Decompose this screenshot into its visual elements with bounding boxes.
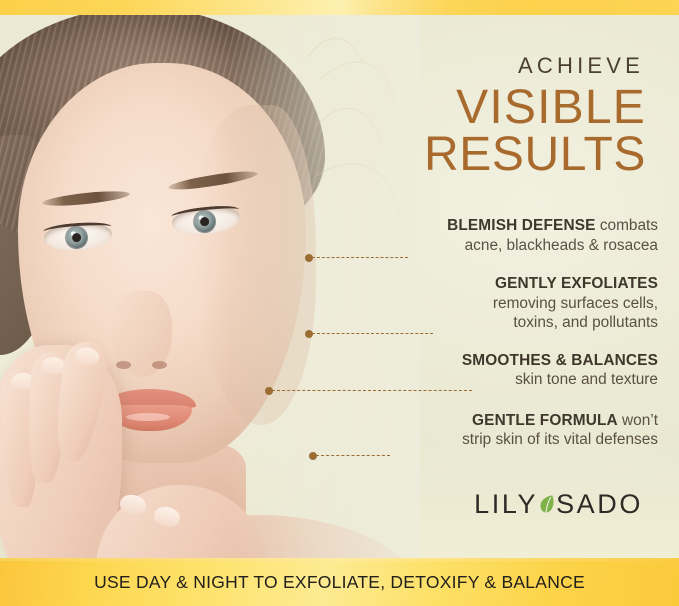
feature-blemish-defense: BLEMISH DEFENSE combats acne, blackheads… [239,216,659,255]
headline-line-1: VISIBLE [424,84,646,131]
leader-dot-1 [305,254,313,262]
nostril-left [116,361,131,369]
feature-1-line-1: BLEMISH DEFENSE combats [239,216,659,236]
feature-2-line-3: toxins, and pollutants [239,313,659,333]
leaf-icon [538,494,555,516]
feature-1-title-rest: combats [596,217,658,234]
feature-1-line-2: acne, blackheads & rosacea [239,236,659,256]
feature-list: BLEMISH DEFENSE combats acne, blackheads… [239,216,659,450]
feature-1-title: BLEMISH DEFENSE [447,217,595,234]
bottom-accent-band: USE DAY & NIGHT TO EXFOLIATE, DETOXIFY &… [0,558,679,606]
leader-dot-2 [305,330,313,338]
feature-gently-exfoliates: GENTLY EXFOLIATES removing surfaces cell… [239,274,659,333]
fingernail-1 [74,346,100,367]
leader-dot-4 [309,452,317,460]
feature-2-title: GENTLY EXFOLIATES [495,275,658,292]
feature-smoothes-balances: SMOOTHES & BALANCES skin tone and textur… [239,351,659,390]
nose [112,291,172,377]
feature-4-title-rest: won’t [618,412,658,429]
footer-tagline: USE DAY & NIGHT TO EXFOLIATE, DETOXIFY &… [94,572,585,593]
product-infographic-poster: ACHIEVE VISIBLE RESULTS BLEMISH DEFENSE … [0,0,679,606]
headline-block: ACHIEVE VISIBLE RESULTS [424,55,646,178]
lip-highlight [126,413,170,421]
feature-gentle-formula: GENTLE FORMULA won’t strip skin of its v… [239,411,659,450]
feature-3-line-1: SMOOTHES & BALANCES [239,351,659,371]
feature-4-line-2: strip skin of its vital defenses [239,430,659,450]
leader-line-3 [272,390,472,391]
brand-name-first: LILY [474,489,538,520]
top-accent-band [0,0,679,15]
feature-2-line-1: GENTLY EXFOLIATES [239,274,659,294]
headline-eyebrow: ACHIEVE [424,55,646,77]
feature-2-line-2: removing surfaces cells, [239,294,659,314]
leader-line-1 [312,257,408,258]
fingernail-5 [152,505,181,529]
feature-3-line-2: skin tone and texture [239,370,659,390]
feature-3-title: SMOOTHES & BALANCES [462,352,658,369]
nostril-right [152,361,167,369]
feature-4-title: GENTLE FORMULA [472,412,618,429]
fingernail-4 [118,493,147,517]
headline-line-2: RESULTS [424,131,646,178]
leader-line-2 [312,333,433,334]
feature-4-line-1: GENTLE FORMULA won’t [239,411,659,431]
leader-line-4 [316,455,390,456]
brand-logo: LILY SADO [474,489,643,520]
leader-dot-3 [265,387,273,395]
brand-name-second: SADO [556,489,643,520]
